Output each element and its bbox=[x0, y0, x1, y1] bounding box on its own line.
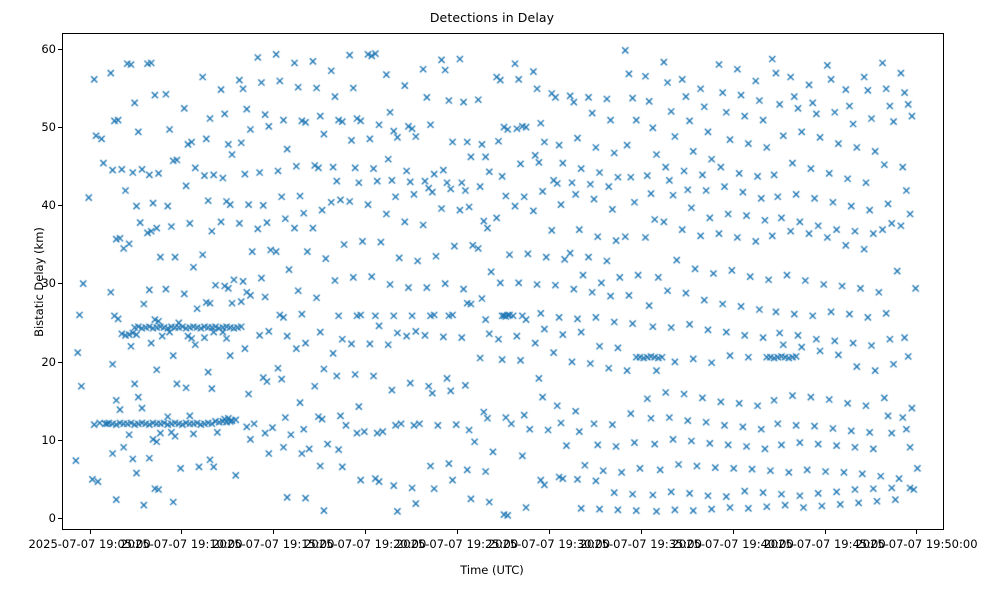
chart-title: Detections in Delay bbox=[0, 10, 984, 25]
x-tick-mark bbox=[825, 530, 826, 534]
x-axis-label: Time (UTC) bbox=[0, 563, 984, 577]
x-tick-mark bbox=[181, 530, 182, 534]
x-tick-mark bbox=[641, 530, 642, 534]
scatter-points-canvas bbox=[63, 34, 944, 530]
matplotlib-figure: Detections in Delay Bistatic Delay (km) … bbox=[0, 0, 984, 590]
x-tick-mark bbox=[733, 530, 734, 534]
y-tick-label: 40 bbox=[0, 198, 56, 212]
y-tick-mark bbox=[58, 362, 62, 363]
x-tick-mark bbox=[365, 530, 366, 534]
x-tick-mark bbox=[916, 530, 917, 534]
y-tick-label: 10 bbox=[0, 433, 56, 447]
x-tick-mark bbox=[457, 530, 458, 534]
plot-area[interactable] bbox=[62, 33, 944, 530]
y-tick-label: 20 bbox=[0, 355, 56, 369]
y-tick-mark bbox=[58, 49, 62, 50]
y-tick-mark bbox=[58, 205, 62, 206]
x-tick-mark bbox=[273, 530, 274, 534]
y-tick-label: 0 bbox=[0, 511, 56, 525]
y-tick-label: 30 bbox=[0, 276, 56, 290]
x-tick-mark bbox=[549, 530, 550, 534]
y-tick-label: 50 bbox=[0, 120, 56, 134]
y-tick-mark bbox=[58, 440, 62, 441]
y-tick-mark bbox=[58, 127, 62, 128]
y-tick-mark bbox=[58, 283, 62, 284]
x-tick-label: 2025-07-07 19:50:00 bbox=[855, 537, 977, 551]
y-tick-mark bbox=[58, 518, 62, 519]
y-tick-label: 60 bbox=[0, 42, 56, 56]
x-tick-mark bbox=[90, 530, 91, 534]
